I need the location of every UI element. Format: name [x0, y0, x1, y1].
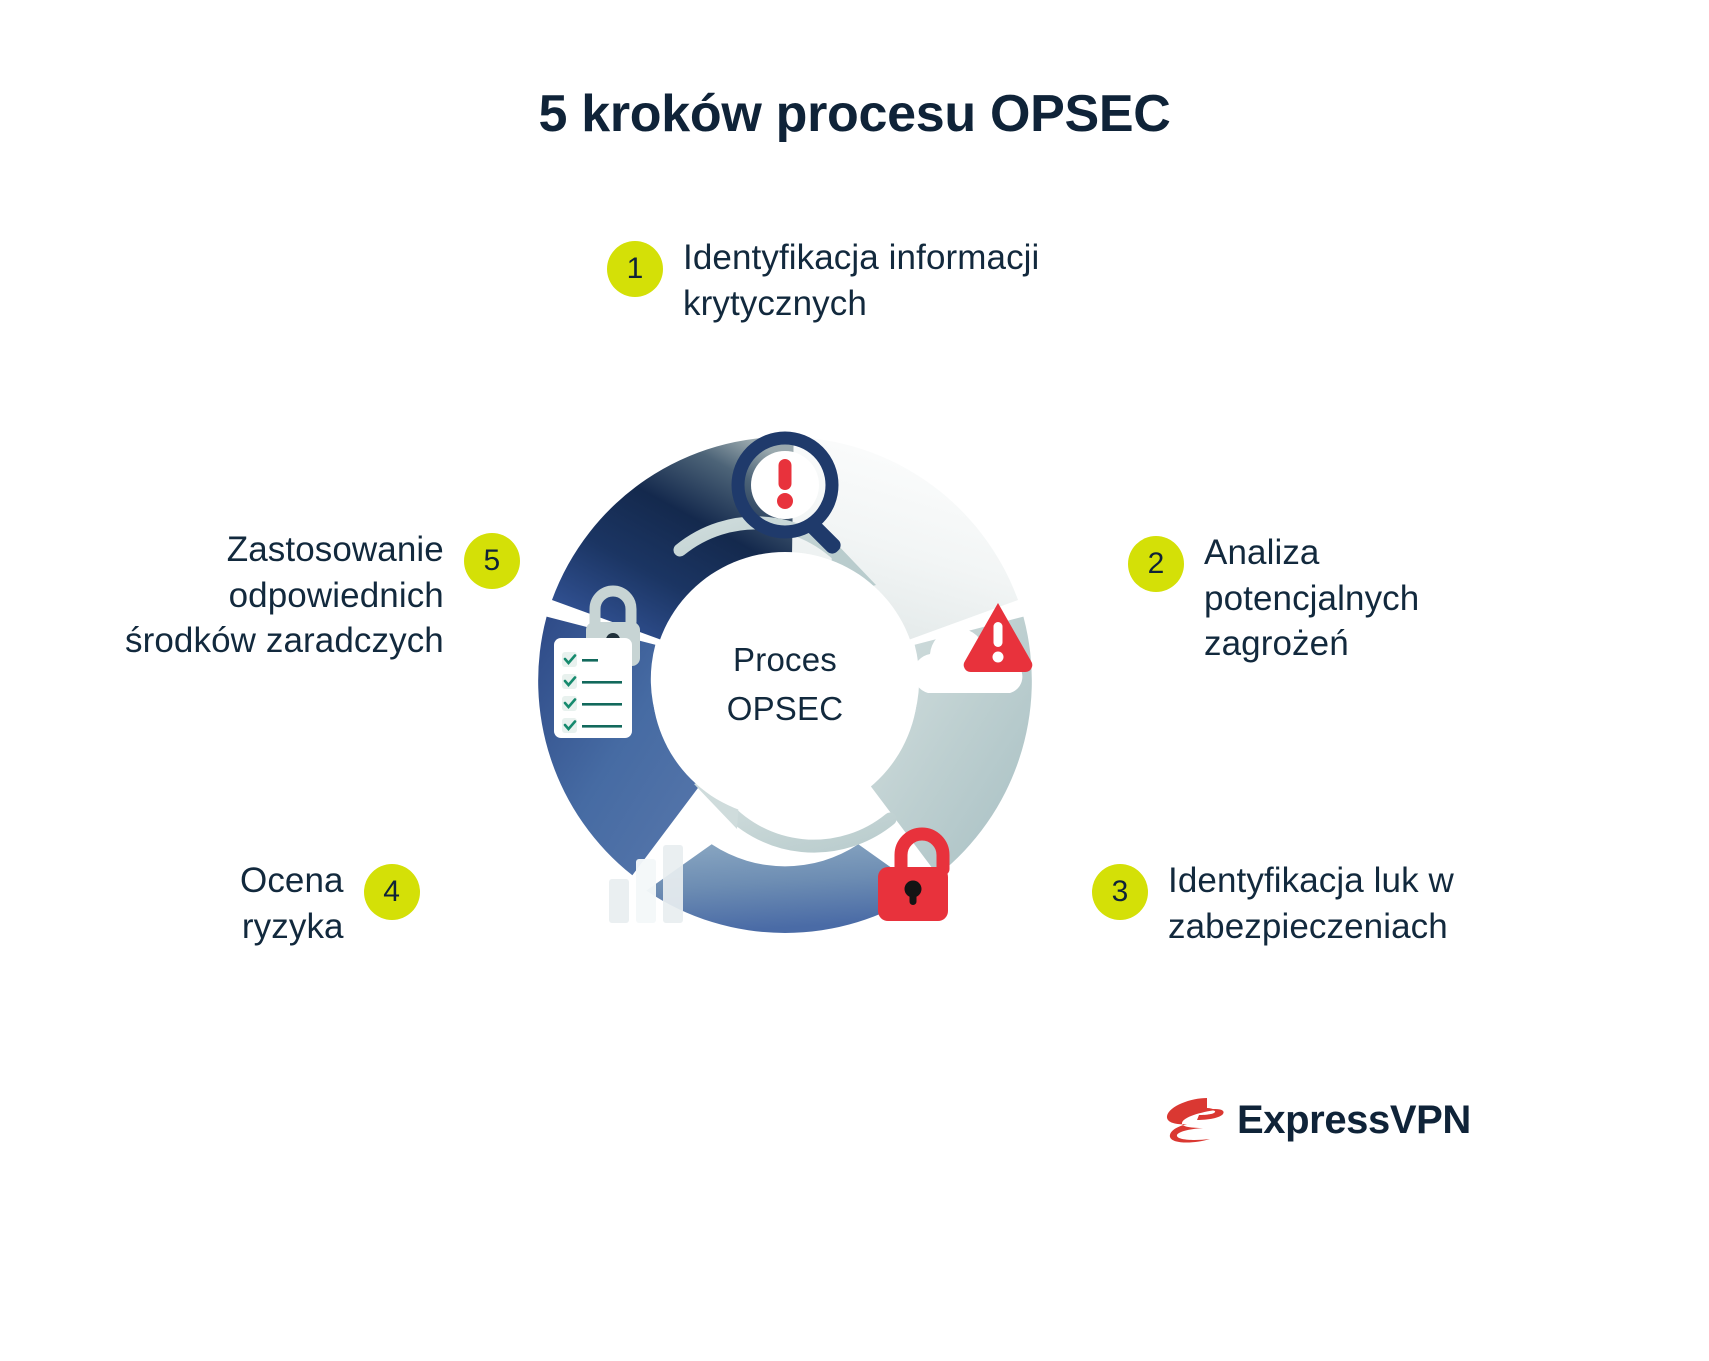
- step-label-2: Analiza potencjalnych zagrożeń: [1204, 530, 1419, 667]
- step-label-4: Ocena ryzyka: [240, 858, 344, 949]
- step-label-4-line-2: ryzyka: [240, 904, 344, 950]
- step-label-2-line-1: Analiza: [1204, 530, 1419, 576]
- step-callout-2[interactable]: 2 Analiza potencjalnych zagrożeń: [1128, 530, 1419, 667]
- step-label-3-line-1: Identyfikacja luk w: [1168, 858, 1454, 904]
- step-callout-4[interactable]: Ocena ryzyka 4: [240, 858, 420, 949]
- step-badge-3: 3: [1092, 864, 1148, 920]
- checklist-lock-icon: [554, 591, 640, 738]
- step-label-5: Zastosowanie odpowiednich środków zaradc…: [125, 527, 444, 664]
- step-callout-1[interactable]: 1 Identyfikacja informacji krytycznych: [607, 235, 1039, 326]
- step-label-1-line-1: Identyfikacja informacji: [683, 235, 1039, 281]
- step-label-1-line-2: krytycznych: [683, 281, 1039, 327]
- step-label-5-line-1: Zastosowanie: [125, 527, 444, 573]
- logo-brand-bold: Express: [1237, 1098, 1390, 1142]
- step-label-4-line-1: Ocena: [240, 858, 344, 904]
- step-badge-2: 2: [1128, 536, 1184, 592]
- opsec-process-donut: [455, 355, 1115, 1015]
- step-label-5-line-3: środków zaradczych: [125, 618, 444, 664]
- expressvpn-wordmark: ExpressVPN: [1237, 1098, 1471, 1143]
- step-badge-4: 4: [364, 864, 420, 920]
- expressvpn-e-mark-icon: [1163, 1094, 1225, 1146]
- infographic-canvas: 5 kroków procesu OPSEC: [0, 0, 1709, 1361]
- step-label-2-line-2: potencjalnych: [1204, 576, 1419, 622]
- step-label-5-line-2: odpowiednich: [125, 573, 444, 619]
- step-label-1: Identyfikacja informacji krytycznych: [683, 235, 1039, 326]
- step-badge-5: 5: [464, 533, 520, 589]
- step-label-3-line-2: zabezpieczeniach: [1168, 904, 1454, 950]
- page-title: 5 kroków procesu OPSEC: [0, 84, 1709, 144]
- step-label-3: Identyfikacja luk w zabezpieczeniach: [1168, 858, 1454, 949]
- step-label-2-line-3: zagrożeń: [1204, 621, 1419, 667]
- logo-brand-rest: VPN: [1390, 1098, 1471, 1142]
- unlocked-padlock-icon: [878, 834, 948, 921]
- step-callout-3[interactable]: 3 Identyfikacja luk w zabezpieczeniach: [1092, 858, 1454, 949]
- donut-hub: [652, 552, 918, 818]
- step-badge-1: 1: [607, 241, 663, 297]
- step-callout-5[interactable]: Zastosowanie odpowiednich środków zaradc…: [125, 527, 520, 664]
- expressvpn-logo[interactable]: ExpressVPN: [1163, 1094, 1471, 1146]
